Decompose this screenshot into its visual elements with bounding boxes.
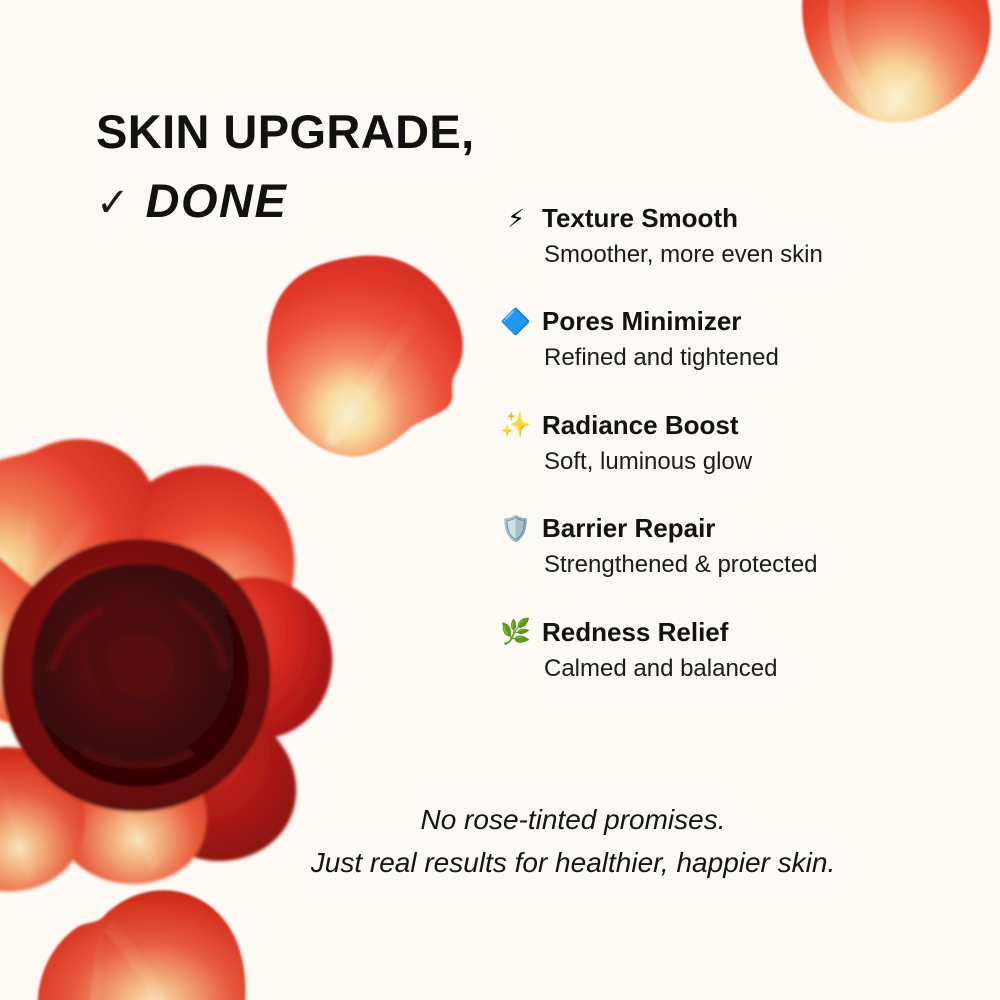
benefit-head: ⚡ Texture Smooth [500, 205, 940, 231]
check-icon: ✓ [96, 183, 130, 223]
benefit-title: Texture Smooth [542, 205, 738, 231]
benefit-description: Strengthened & protected [544, 552, 940, 578]
petal-center-top [252, 248, 482, 478]
benefit-head: 🔷 Pores Minimizer [500, 308, 940, 334]
tagline-line-2: Just real results for healthier, happier… [146, 841, 1000, 884]
sparkles-icon: ✨ [500, 412, 532, 437]
petal-top-right-shape [757, 0, 1000, 154]
benefit-head: 🛡️ Barrier Repair [500, 515, 940, 541]
benefit-item-texture-smooth: ⚡ Texture Smooth Smoother, more even ski… [500, 205, 940, 268]
benefit-title: Pores Minimizer [542, 308, 741, 334]
benefit-item-barrier-repair: 🛡️ Barrier Repair Strengthened & protect… [500, 515, 940, 578]
poster-canvas: SKIN UPGRADE, ✓ DONE ⚡ Texture Smooth Sm… [0, 0, 1000, 1000]
petal-center-top-shape [252, 248, 482, 478]
lightning-bolt-icon: ⚡ [500, 206, 532, 231]
petal-top-right [757, 0, 1000, 154]
benefit-description: Calmed and balanced [544, 656, 940, 682]
benefit-item-redness-relief: 🌿 Redness Relief Calmed and balanced [500, 619, 940, 682]
benefit-head: ✨ Radiance Boost [500, 412, 940, 438]
benefit-item-radiance-boost: ✨ Radiance Boost Soft, luminous glow [500, 412, 940, 475]
headline-done-word: DONE [146, 177, 288, 224]
benefit-title: Barrier Repair [542, 515, 715, 541]
tagline-block: No rose-tinted promises. Just real resul… [0, 798, 1000, 885]
benefit-title: Radiance Boost [542, 412, 739, 438]
headline-block: SKIN UPGRADE, ✓ DONE [96, 108, 475, 224]
benefit-description: Refined and tightened [544, 345, 940, 371]
blue-diamond-icon: 🔷 [500, 309, 532, 334]
benefit-description: Soft, luminous glow [544, 449, 940, 475]
headline-line-1: SKIN UPGRADE, [96, 108, 475, 155]
tagline-line-1: No rose-tinted promises. [146, 798, 1000, 841]
benefit-description: Smoother, more even skin [544, 242, 940, 268]
benefit-item-pores-minimizer: 🔷 Pores Minimizer Refined and tightened [500, 308, 940, 371]
benefit-head: 🌿 Redness Relief [500, 619, 940, 645]
petal-bottom-left-shape [36, 884, 266, 1000]
shield-icon: 🛡️ [500, 516, 532, 541]
benefits-list: ⚡ Texture Smooth Smoother, more even ski… [500, 205, 940, 682]
herb-leaf-icon: 🌿 [500, 619, 532, 644]
headline-line-2: ✓ DONE [96, 177, 475, 224]
petal-bottom-left [36, 884, 266, 1000]
benefit-title: Redness Relief [542, 619, 728, 645]
